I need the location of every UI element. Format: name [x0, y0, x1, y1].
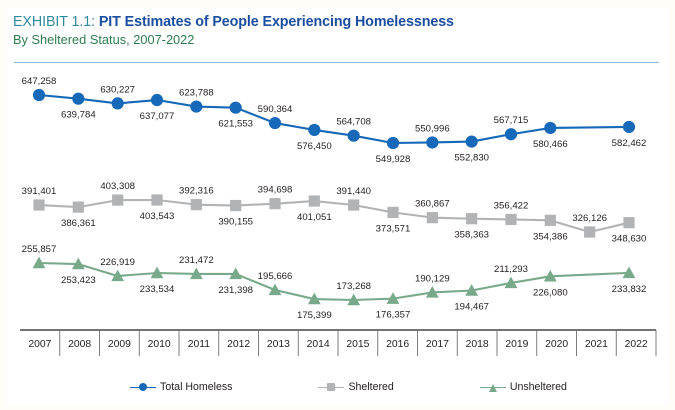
legend-item-total-homeless[interactable]: Total Homeless: [130, 381, 232, 393]
data-point: [505, 128, 517, 140]
marker-circle-icon: [544, 122, 556, 134]
x-axis-label: 2013: [267, 339, 290, 350]
data-label: 391,401: [22, 186, 57, 197]
marker-circle-icon: [387, 137, 399, 149]
data-label: 253,423: [61, 275, 96, 286]
legend-label: Total Homeless: [160, 381, 232, 393]
data-label: 623,788: [179, 88, 214, 99]
marker-circle-icon: [426, 136, 438, 148]
marker-circle-icon: [623, 121, 635, 133]
marker-square-icon: [309, 195, 320, 206]
marker-circle-icon: [151, 94, 163, 106]
data-label: 567,715: [494, 115, 529, 126]
data-label: 576,450: [297, 141, 332, 152]
data-label: 647,258: [22, 76, 57, 87]
data-label: 173,268: [336, 281, 371, 292]
data-point: [191, 199, 202, 210]
marker-square-icon: [151, 194, 162, 205]
data-point: [112, 97, 124, 109]
chart-svg: 2007200820092010201120122013201420152016…: [0, 0, 675, 410]
marker-circle-icon: [190, 100, 202, 112]
data-label: 176,357: [376, 310, 411, 321]
data-label: 391,440: [336, 186, 371, 197]
data-point: [623, 121, 635, 133]
data-label: 233,832: [612, 284, 647, 295]
legend-label: Sheltered: [348, 381, 393, 393]
data-point: [269, 198, 280, 209]
data-label: 630,227: [100, 84, 135, 95]
data-label: 580,466: [533, 139, 568, 150]
data-point: [33, 199, 44, 210]
data-label: 211,293: [494, 264, 528, 275]
data-label: 233,534: [140, 284, 175, 295]
data-point: [427, 212, 438, 223]
marker-circle-icon: [33, 89, 45, 101]
data-point: [348, 199, 359, 210]
data-point: [33, 89, 45, 101]
data-point: [623, 217, 634, 228]
x-axis-label: 2021: [585, 339, 608, 350]
data-label: 356,422: [494, 200, 529, 211]
marker-square-icon: [230, 200, 241, 211]
data-point: [545, 215, 556, 226]
data-label: 360,867: [415, 199, 450, 210]
data-label: 195,666: [258, 271, 293, 282]
chart-legend: Total Homeless Sheltered Unsheltered: [0, 376, 675, 398]
marker-square-icon: [623, 217, 634, 228]
x-axis-label: 2019: [505, 339, 528, 350]
data-point: [584, 226, 595, 237]
data-point: [505, 214, 516, 225]
data-point: [151, 94, 163, 106]
data-label: 549,928: [376, 154, 411, 165]
data-label: 354,386: [533, 231, 568, 242]
data-point: [269, 284, 282, 296]
legend-marker-triangle-icon: [480, 381, 506, 393]
data-label: 226,919: [100, 257, 135, 268]
legend-label: Unsheltered: [510, 381, 567, 393]
data-label: 175,399: [297, 310, 332, 321]
series-line-sheltered: [39, 200, 629, 232]
data-label: 358,363: [454, 230, 489, 241]
data-point: [151, 194, 162, 205]
chart-plot-area: 2007200820092010201120122013201420152016…: [0, 0, 675, 410]
data-label: 637,077: [140, 111, 175, 122]
data-label: 390,155: [218, 217, 253, 228]
x-axis-label: 2015: [346, 339, 369, 350]
data-label: 401,051: [297, 212, 332, 223]
data-label: 190,129: [415, 273, 450, 284]
data-point: [230, 200, 241, 211]
marker-triangle-icon: [269, 284, 282, 296]
data-point: [190, 100, 202, 112]
data-label: 582,462: [612, 138, 647, 149]
data-point: [387, 137, 399, 149]
marker-square-icon: [584, 226, 595, 237]
data-label: 590,364: [258, 104, 293, 115]
marker-circle-icon: [505, 128, 517, 140]
data-label: 403,308: [100, 181, 135, 192]
marker-square-icon: [191, 199, 202, 210]
data-label: 231,472: [179, 255, 214, 266]
marker-square-icon: [387, 207, 398, 218]
marker-circle-icon: [72, 93, 84, 105]
series-line-total-homeless: [39, 95, 629, 143]
data-label: 639,784: [61, 110, 96, 121]
data-label: 386,361: [61, 218, 96, 229]
x-axis-label: 2008: [68, 339, 91, 350]
x-axis-label: 2012: [227, 339, 250, 350]
data-point: [466, 135, 478, 147]
data-point: [112, 194, 123, 205]
x-axis-label: 2022: [625, 339, 648, 350]
marker-square-icon: [348, 199, 359, 210]
marker-square-icon: [545, 215, 556, 226]
marker-square-icon: [466, 213, 477, 224]
data-label: 348,630: [612, 234, 647, 245]
legend-marker-square-icon: [318, 381, 344, 393]
x-axis-label: 2018: [466, 339, 489, 350]
x-axis-label: 2009: [108, 339, 131, 350]
marker-circle-icon: [348, 130, 360, 142]
marker-square-icon: [112, 194, 123, 205]
data-label: 255,857: [22, 244, 57, 255]
marker-square-icon: [73, 202, 84, 213]
data-point: [230, 102, 242, 114]
data-label: 403,543: [140, 211, 175, 222]
marker-circle-icon: [466, 135, 478, 147]
marker-square-icon: [427, 212, 438, 223]
data-label: 226,080: [533, 287, 568, 298]
data-label: 392,316: [179, 186, 214, 197]
exhibit-chart-page: EXHIBIT 1.1: PIT Estimates of People Exp…: [0, 0, 675, 410]
x-axis-label: 2010: [148, 339, 171, 350]
data-point: [466, 213, 477, 224]
x-axis-label: 2007: [28, 339, 51, 350]
marker-square-icon: [269, 198, 280, 209]
data-label: 394,698: [258, 185, 293, 196]
marker-circle-icon: [230, 102, 242, 114]
marker-square-icon: [505, 214, 516, 225]
data-label: 194,467: [454, 302, 489, 313]
data-point: [309, 195, 320, 206]
data-point: [387, 207, 398, 218]
data-label: 326,126: [572, 213, 607, 224]
data-point: [348, 130, 360, 142]
data-label: 621,553: [218, 119, 253, 130]
data-label: 373,571: [376, 223, 411, 234]
data-point: [269, 117, 281, 129]
x-axis-label: 2020: [545, 339, 568, 350]
x-axis-label: 2014: [307, 339, 330, 350]
data-label: 564,708: [336, 117, 371, 128]
data-label: 231,398: [218, 285, 253, 296]
marker-circle-icon: [308, 124, 320, 136]
legend-item-sheltered[interactable]: Sheltered: [318, 381, 393, 393]
data-point: [72, 93, 84, 105]
marker-circle-icon: [269, 117, 281, 129]
data-label: 552,830: [454, 153, 489, 164]
data-point: [426, 136, 438, 148]
data-point: [544, 122, 556, 134]
marker-circle-icon: [112, 97, 124, 109]
data-point: [308, 124, 320, 136]
x-axis-label: 2017: [426, 339, 449, 350]
data-label: 550,996: [415, 123, 450, 134]
legend-marker-circle-icon: [130, 381, 156, 393]
x-axis-label: 2011: [188, 339, 211, 350]
x-axis-label: 2016: [386, 339, 409, 350]
data-point: [73, 202, 84, 213]
legend-item-unsheltered[interactable]: Unsheltered: [480, 381, 567, 393]
marker-square-icon: [33, 199, 44, 210]
